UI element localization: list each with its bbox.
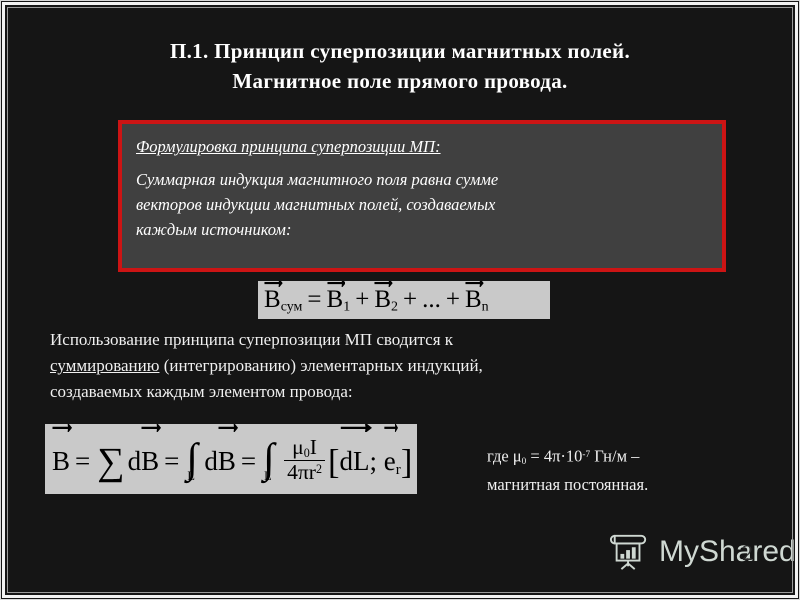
vector-b-n: B bbox=[465, 281, 482, 319]
integral-limit-1: L bbox=[187, 441, 195, 494]
formula-sum-term2-sub: 2 bbox=[391, 300, 398, 315]
bracket-separator: ; bbox=[370, 446, 378, 476]
formula-int-d-1: d bbox=[128, 446, 142, 476]
note-units: Гн/м – bbox=[590, 447, 639, 466]
formula-int-equals-1: = bbox=[75, 446, 90, 476]
formula-sum-term1: B bbox=[327, 286, 344, 313]
vector-b-2: B bbox=[374, 281, 391, 319]
denominator-text: 4πr bbox=[287, 460, 316, 484]
fraction-mu0I-over-4pir2: μ0I4πr2 bbox=[284, 436, 325, 485]
bracket-open: [ bbox=[328, 443, 340, 481]
formula-sum-plus-3: + bbox=[446, 286, 460, 313]
summation-sigma-icon: ∑ bbox=[97, 441, 124, 483]
integral-limit-2: L bbox=[264, 441, 272, 494]
formula-superposition-sum: Bсум=B1+B2+...+Bn bbox=[258, 281, 550, 319]
page-title-line-1: П.1. Принцип суперпозиции магнитных поле… bbox=[60, 36, 740, 66]
vector-dL: dL bbox=[340, 426, 370, 494]
formula-int-db-2: B bbox=[218, 446, 236, 476]
magnetic-constant-note-line-2: магнитная постоянная. bbox=[487, 473, 777, 497]
vector-b-1: B bbox=[327, 281, 344, 319]
body-paragraph: Использование принципа суперпозиции МП с… bbox=[50, 327, 750, 405]
page-title: П.1. Принцип суперпозиции магнитных поле… bbox=[60, 36, 740, 96]
magnetic-constant-note: где μ0 = 4π·10-7 Гн/м – магнитная постоя… bbox=[487, 442, 777, 497]
definition-heading: Формулировка принципа суперпозиции МП: bbox=[136, 135, 708, 158]
note-mu-symbol: μ bbox=[513, 447, 522, 466]
formula-sum-termn-sub: n bbox=[482, 300, 489, 315]
note-exponent: -7 bbox=[582, 449, 590, 459]
vector-arrow-icon bbox=[384, 424, 398, 432]
body-paragraph-line-3: создаваемых каждым элементом провода: bbox=[50, 379, 750, 405]
mu-symbol: μ bbox=[292, 435, 304, 459]
page-title-line-2: Магнитное поле прямого провода. bbox=[60, 66, 740, 96]
formula-sum-lhs: B bbox=[264, 286, 281, 313]
formula-sum-ellipsis: ... bbox=[422, 286, 441, 313]
note-value: = 4π·10 bbox=[526, 447, 582, 466]
definition-body-line-1: Суммарная индукция магнитного поля равна… bbox=[136, 167, 708, 192]
bracket-close: ] bbox=[401, 443, 413, 481]
flipchart-bar-chart-icon bbox=[608, 532, 650, 572]
vector-arrow-icon bbox=[218, 424, 238, 432]
formula-int-d-2: d bbox=[204, 446, 218, 476]
formula-int-equals-2: = bbox=[164, 446, 179, 476]
vector-arrow-icon bbox=[141, 424, 161, 432]
formula-int-lhs: B bbox=[52, 446, 70, 476]
vector-arrow-icon bbox=[340, 424, 372, 432]
body-paragraph-line-2: суммированию (интегрированию) элементарн… bbox=[50, 353, 750, 379]
integral-sign-1: ∫L bbox=[186, 424, 202, 494]
body-paragraph-underlined-term: суммированию bbox=[50, 356, 159, 375]
body-paragraph-line-2-rest: (интегрированию) элементарных индукций, bbox=[159, 356, 482, 375]
formula-sum-termn: B bbox=[465, 286, 482, 313]
myshared-watermark-text: MyShared bbox=[659, 535, 796, 569]
formula-int-e: e bbox=[384, 446, 396, 476]
formula-sum-term2: B bbox=[374, 286, 391, 313]
vector-b: B bbox=[52, 426, 70, 494]
myshared-watermark: MyShared bbox=[608, 532, 796, 572]
formula-sum-lhs-sub: сум bbox=[281, 300, 303, 315]
formula-int-db-1: B bbox=[141, 446, 159, 476]
definition-body: Суммарная индукция магнитного поля равна… bbox=[136, 167, 708, 242]
presentation-slide: П.1. Принцип суперпозиции магнитных поле… bbox=[0, 0, 800, 600]
current-symbol: I bbox=[310, 435, 317, 459]
formula-sum-plus-1: + bbox=[355, 286, 369, 313]
vector-db-2: B bbox=[218, 426, 236, 494]
formula-sum-plus-2: + bbox=[403, 286, 417, 313]
vector-er: e bbox=[384, 426, 396, 494]
definition-body-line-2: векторов индукции магнитных полей, созда… bbox=[136, 192, 708, 217]
page-number: 2 bbox=[742, 540, 753, 566]
integral-sign-2: ∫L bbox=[263, 424, 279, 494]
denominator-exponent: 2 bbox=[316, 462, 322, 476]
formula-sum-term1-sub: 1 bbox=[343, 300, 350, 315]
formula-sum-equals: = bbox=[307, 286, 321, 313]
formula-int-equals-3: = bbox=[241, 446, 256, 476]
note-prefix: где bbox=[487, 447, 513, 466]
magnetic-constant-note-line-1: где μ0 = 4π·10-7 Гн/м – bbox=[487, 442, 777, 473]
fraction-numerator: μ0I bbox=[284, 436, 325, 460]
definition-box: Формулировка принципа суперпозиции МП: С… bbox=[118, 120, 726, 272]
formula-biot-savart-integral: B=∑dB=∫LdB=∫Lμ0I4πr2[dL; er] bbox=[45, 424, 417, 494]
body-paragraph-line-1: Использование принципа суперпозиции МП с… bbox=[50, 327, 750, 353]
vector-db-1: B bbox=[141, 426, 159, 494]
vector-arrow-icon bbox=[52, 424, 72, 432]
fraction-denominator: 4πr2 bbox=[284, 460, 325, 484]
definition-body-line-3: каждым источником: bbox=[136, 217, 708, 242]
vector-b-sum: B bbox=[264, 281, 281, 319]
formula-int-dL: dL bbox=[340, 446, 370, 476]
